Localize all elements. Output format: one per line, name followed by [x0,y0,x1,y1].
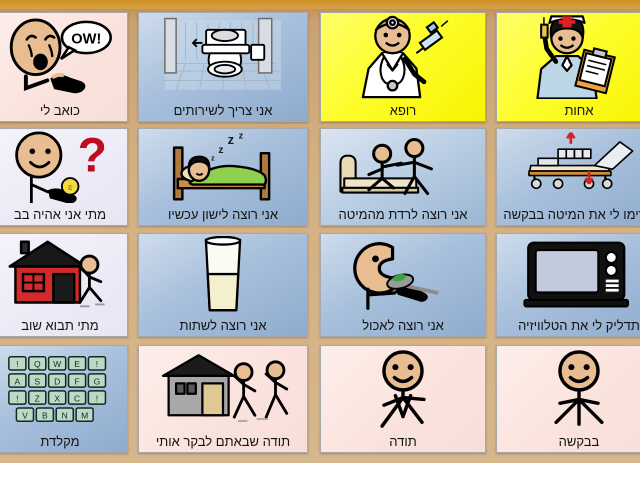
board-cell-label: אני צריך לשירותים [139,103,307,121]
board-cell-label: אחות [497,103,640,121]
board-cell-sleep-now[interactable]: z z z z אני רוצה לישון עכשיו [138,128,308,226]
svg-text:X: X [54,393,60,403]
board-cell-when-return[interactable]: מתי תבוא שוב [0,233,128,337]
board-cell-label: מתי אני אהיה בב [0,207,127,225]
svg-text:G: G [94,376,101,386]
board-cell-get-out-of-bed[interactable]: אני רוצה לרדת מהמיטה [320,128,486,226]
board-cell-label: מתי תבוא שוב [0,318,127,336]
person-waving-thanks-icon [321,348,485,430]
svg-text:D: D [54,376,60,386]
svg-text:M: M [81,410,88,420]
svg-text:W: W [53,359,62,369]
board-cell-label: מקלדת [0,434,127,452]
board-cell-thanks-for-visit[interactable]: תודה שבאתם לבקר אותי [138,345,308,453]
board-cell-want-eat[interactable]: אני רוצה לאכול [320,233,486,337]
board-cell-nurse[interactable]: אחות [496,12,640,122]
svg-text:Q: Q [34,359,41,369]
board-cell-label: אני רוצה לישון עכשיו [139,207,307,225]
board-top-bar [0,0,640,9]
svg-text:OW!: OW! [71,31,101,47]
board-cell-label: תודה שבאתם לבקר אותי [139,434,307,452]
board-cell-label: רופא [321,103,485,121]
svg-text:z: z [239,131,244,140]
board-cell-label: תודה [321,434,485,452]
svg-text:!: ! [16,393,18,403]
board-cell-when-home[interactable]: ₪ ? מתי אני אהיה בב [0,128,128,226]
person-question-mark-icon: ₪ ? [0,131,127,203]
svg-text:S: S [34,376,40,386]
glass-of-water-icon [139,236,307,314]
svg-text:V: V [22,410,28,420]
person-standing-please-icon [497,348,640,430]
communication-board: OW! כואב לי [0,0,640,463]
person-helped-out-of-bed-icon [321,131,485,203]
svg-text:A: A [15,376,21,386]
doctor-syringe-icon [321,15,485,99]
board-cell-label: תרימו לי את המיטה בבקשה [497,207,640,225]
board-cell-label: כואב לי [0,103,127,121]
svg-text:?: ? [78,131,107,183]
board-cell-label: בבקשה [497,434,640,452]
svg-text:z: z [211,154,215,163]
person-sleeping-in-bed-icon: z z z z [139,131,307,203]
nurse-clipboard-icon [497,15,640,99]
svg-text:B: B [42,410,48,420]
svg-text:!: ! [16,359,18,369]
house-person-walking-icon [0,236,127,314]
svg-text:₪: ₪ [68,183,73,192]
board-cell-label: אני רוצה לרדת מהמיטה [321,207,485,225]
board-cell-label: אני רוצה לאכול [321,318,485,336]
svg-text:z: z [228,132,234,147]
person-in-pain-ow-icon: OW! [0,15,127,99]
svg-text:F: F [74,376,79,386]
svg-text:E: E [74,359,80,369]
svg-text:z: z [218,145,223,156]
television-icon [497,236,640,314]
board-cell-toilet[interactable]: אני צריך לשירותים [138,12,308,122]
board-cell-raise-bed[interactable]: תרימו לי את המיטה בבקשה [496,128,640,226]
svg-text:N: N [62,410,68,420]
board-cell-pain[interactable]: OW! כואב לי [0,12,128,122]
board-cell-turn-on-tv[interactable]: תדליק לי את הטלוויזיה [496,233,640,337]
house-two-people-walking-icon [139,348,307,430]
toilet-bathroom-icon [139,15,307,99]
board-cell-want-drink[interactable]: אני רוצה לשתות [138,233,308,337]
hospital-bed-adjust-icon [497,131,640,191]
keyboard-icon: !QWE! ASDFG !ZXC! VBNM [0,348,127,430]
person-eating-spoon-icon [321,236,485,314]
svg-text:C: C [74,393,80,403]
svg-text:!: ! [96,359,98,369]
board-cell-label: תדליק לי את הטלוויזיה [497,318,640,336]
board-cell-doctor[interactable]: רופא [320,12,486,122]
board-cell-keyboard[interactable]: !QWE! ASDFG !ZXC! VBNM מקלדת [0,345,128,453]
svg-text:Z: Z [35,393,40,403]
board-cell-please[interactable]: בבקשה [496,345,640,453]
svg-text:!: ! [96,393,98,403]
board-cell-thank-you[interactable]: תודה [320,345,486,453]
board-cell-label: אני רוצה לשתות [139,318,307,336]
